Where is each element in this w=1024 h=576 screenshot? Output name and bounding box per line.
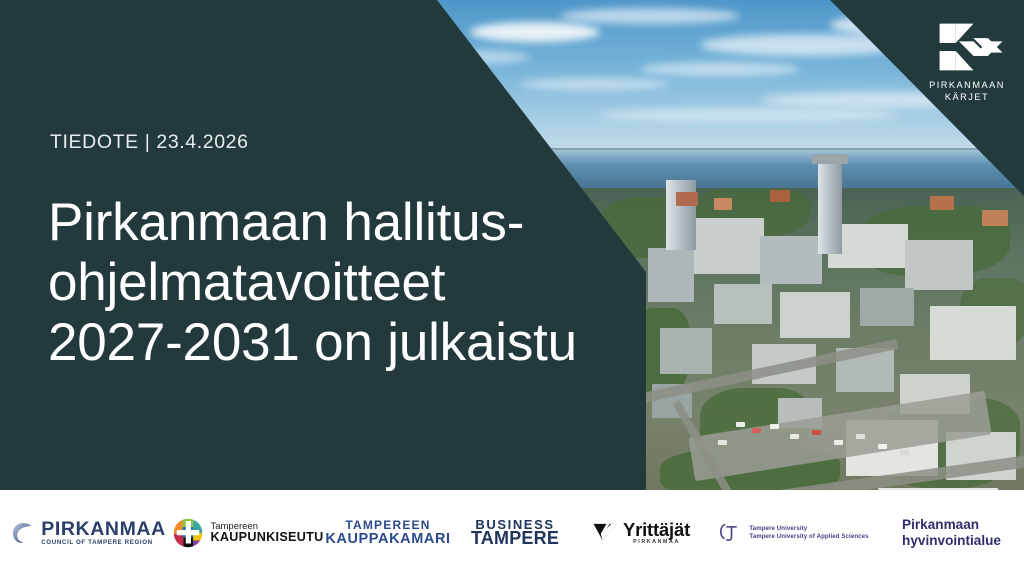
partner-logo-line-2: hyvinvointialue: [902, 533, 1001, 549]
partner-logo-tampereen-kauppakamari: TAMPEREEN KAUPPAKAMARI: [321, 490, 455, 576]
double-chevron-icon: [925, 22, 1009, 72]
partner-logo-pirkanmaa-council: PIRKANMAA COUNCIL OF TAMPERE REGION: [0, 490, 176, 576]
brand-logo-line-2: KÄRJET: [925, 91, 1009, 103]
partner-logo-wordmark: PIRKANMAA: [41, 519, 166, 539]
partner-logo-line-1: TAMPEREEN: [325, 519, 450, 531]
headline-line-1: Pirkanmaan hallitus-: [48, 193, 648, 253]
partner-logo-tampere-university: Tampere University Tampere University of…: [707, 490, 879, 576]
brand-logo-line-1: PIRKANMAAN: [925, 79, 1009, 91]
cloud-icon: [600, 108, 900, 122]
cloud-icon: [470, 22, 600, 42]
partner-logo-line-1: Tampere University: [749, 525, 868, 533]
partner-logo-business-tampere: BUSINESS TAMPERE: [455, 490, 575, 576]
headline-line-2: ohjelmatavoitteet: [48, 253, 648, 313]
partner-logo-line-2: KAUPPAKAMARI: [325, 532, 450, 547]
cloud-icon: [640, 62, 800, 76]
partner-logo-line-1: Yrittäjät: [623, 520, 690, 539]
partner-logo-line-2: PIRKANMAA: [623, 540, 690, 546]
color-pinwheel-icon: [173, 518, 203, 548]
partner-logo-bar: PIRKANMAA COUNCIL OF TAMPERE REGION: [0, 490, 1024, 576]
partner-logo-line-1: Pirkanmaan: [902, 517, 1001, 533]
partner-logo-yrittajat-pirkanmaa: Yrittäjät PIRKANMAA: [575, 490, 707, 576]
brand-logo-pirkanmaan-karjet: PIRKANMAAN KÄRJET: [925, 22, 1009, 103]
partner-logo-pirkanmaan-hyvinvointialue: Pirkanmaan hyvinvointialue: [879, 490, 1024, 576]
cloud-icon: [520, 78, 670, 90]
cloud-icon: [560, 8, 740, 24]
page-title: Pirkanmaan hallitus- ohjelmatavoitteet 2…: [48, 193, 648, 373]
flag-triangle-icon: [592, 520, 618, 546]
press-release-slide: TIEDOTE | 23.4.2026 Pirkanmaan hallitus-…: [0, 0, 1024, 576]
partner-logo-tampereen-kaupunkiseutu: Tampereen KAUPUNKISEUTU: [176, 490, 321, 576]
kicker-text: TIEDOTE | 23.4.2026: [50, 131, 249, 154]
brand-logo-text: PIRKANMAAN KÄRJET: [925, 79, 1009, 103]
swirl-icon: [10, 520, 36, 546]
partner-logo-subtitle: COUNCIL OF TAMPERE REGION: [41, 540, 166, 546]
partner-logo-line-2: KAUPUNKISEUTU: [210, 531, 323, 544]
partner-logo-line-2: TAMPERE: [471, 529, 559, 548]
headline-line-3: 2027-2031 on julkaistu: [48, 313, 648, 373]
partner-logo-line-2: Tampere University of Applied Sciences: [749, 533, 868, 541]
tau-monogram-icon: [717, 521, 743, 545]
